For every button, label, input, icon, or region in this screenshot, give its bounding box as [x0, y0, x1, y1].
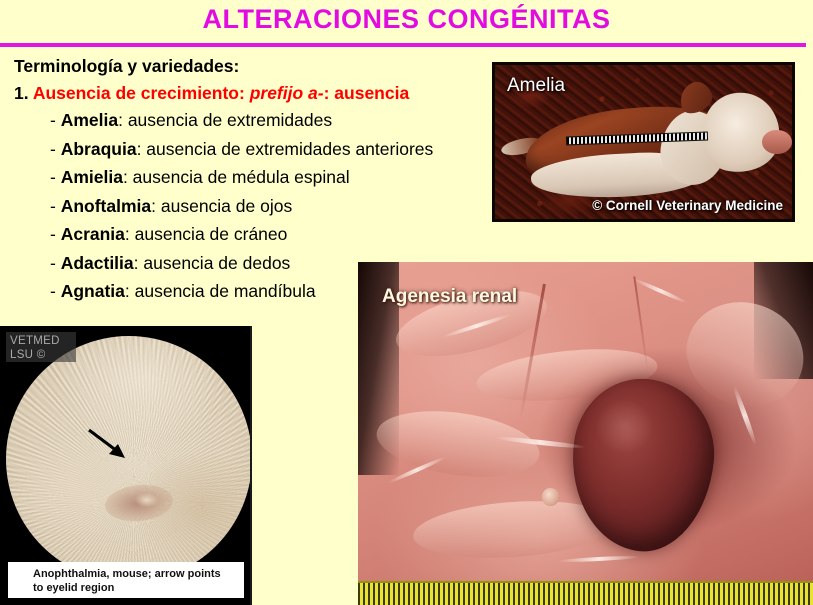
list-dash: - — [50, 196, 61, 216]
list-item: - Amelia: ausencia de extremidades — [50, 112, 500, 130]
item-number: 1. — [14, 83, 33, 103]
list-definition: : ausencia de mandíbula — [125, 281, 316, 301]
caption-line-2: to eyelid region — [33, 581, 244, 595]
kidney-highlight — [595, 399, 654, 454]
amelia-photo: Amelia © Cornell Veterinary Medicine — [492, 62, 795, 222]
list-definition: : ausencia de extremidades anteriores — [137, 139, 434, 159]
list-definition: : ausencia de médula espinal — [123, 167, 350, 187]
numbered-item: 1. Ausencia de crecimiento: prefijo a-: … — [14, 85, 500, 103]
renal-agenesis-photo: Agenesia renal — [358, 262, 813, 605]
amelia-credit-text: © Cornell Veterinary Medicine — [592, 198, 783, 213]
list-term: Acrania — [61, 224, 125, 244]
item-label: Ausencia de crecimiento: — [33, 83, 250, 103]
list-definition: : ausencia de extremidades — [118, 110, 332, 130]
list-item: - Abraquia: ausencia de extremidades ant… — [50, 141, 500, 159]
agenesia-renal-label: Agenesia renal — [382, 286, 517, 308]
list-dash: - — [50, 253, 61, 273]
heading-colon: : — [233, 56, 239, 76]
list-dash: - — [50, 139, 61, 159]
anophthalmia-photo: VETMED LSU © Anophthalmia, mouse; arrow … — [0, 326, 252, 605]
yellow-ruler — [358, 581, 813, 605]
list-term: Abraquia — [61, 139, 137, 159]
list-definition: : ausencia de cráneo — [125, 224, 287, 244]
title-divider — [0, 43, 806, 47]
pointer-arrow-icon — [87, 428, 133, 460]
list-term: Anoftalmia — [61, 196, 151, 216]
list-dash: - — [50, 110, 61, 130]
amelia-label: Amelia — [507, 75, 565, 97]
calf-muzzle — [762, 130, 792, 155]
list-term: Agnatia — [61, 281, 125, 301]
list-term: Amelia — [61, 110, 118, 130]
slide-canvas: ALTERACIONES CONGÉNITAS Terminología y v… — [0, 0, 813, 605]
item-tail: : ausencia — [324, 83, 410, 103]
list-definition: : ausencia de dedos — [134, 253, 291, 273]
text-heading: Terminología y variedades: — [14, 58, 500, 76]
list-dash: - — [50, 281, 61, 301]
caption-line-1: Anophthalmia, mouse; arrow points — [33, 567, 244, 581]
list-item: - Amielia: ausencia de médula espinal — [50, 169, 500, 187]
list-item: - Anoftalmia: ausencia de ojos — [50, 198, 500, 216]
item-italic-prefix: prefijo a- — [250, 83, 324, 103]
list-definition: : ausencia de ojos — [151, 196, 292, 216]
small-nodule — [542, 488, 558, 505]
list-term: Adactilia — [61, 253, 134, 273]
vetmed-watermark: VETMED LSU © — [6, 332, 76, 362]
list-item: - Acrania: ausencia de cráneo — [50, 226, 500, 244]
list-term: Amielia — [61, 167, 123, 187]
heading-label: Terminología y variedades — [14, 56, 233, 76]
eyelid-highlight — [135, 493, 158, 507]
page-title: ALTERACIONES CONGÉNITAS — [0, 4, 813, 35]
anophthalmia-caption: Anophthalmia, mouse; arrow points to eye… — [8, 562, 244, 598]
list-dash: - — [50, 224, 61, 244]
list-dash: - — [50, 167, 61, 187]
